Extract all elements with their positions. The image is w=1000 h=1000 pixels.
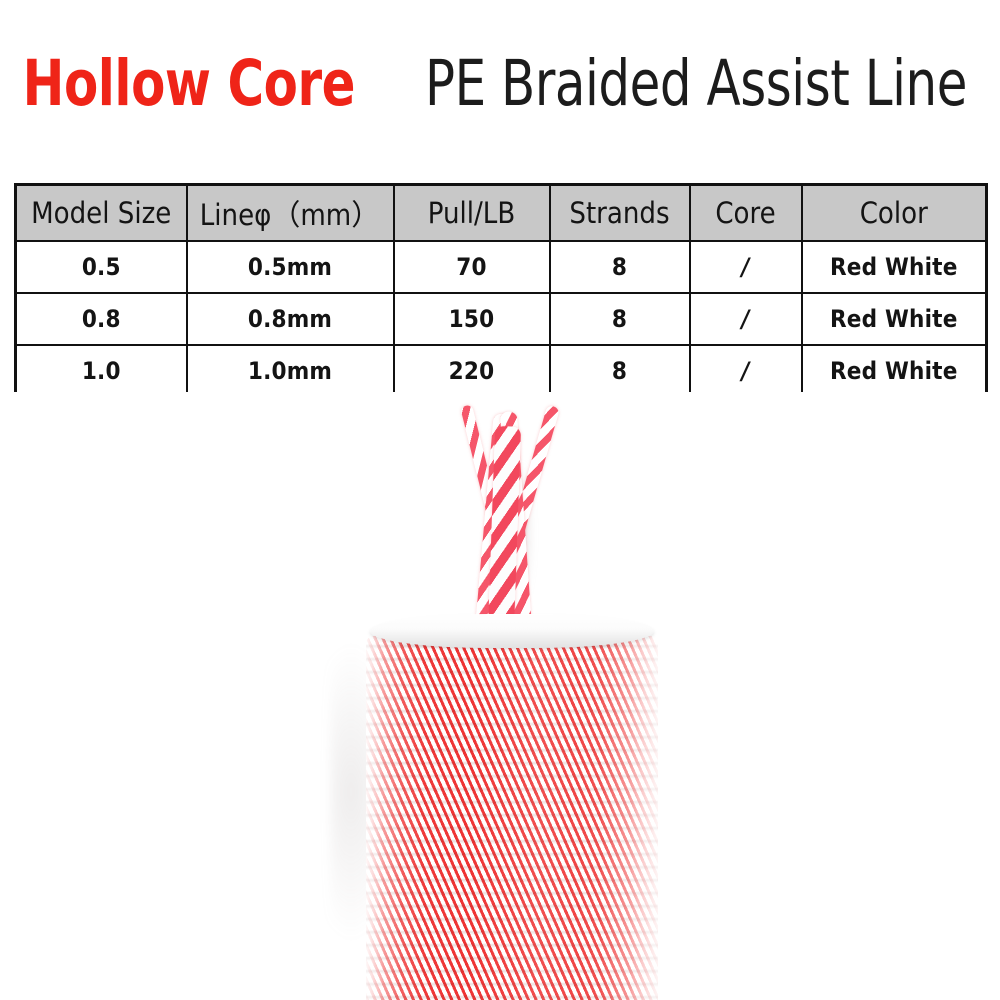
cell-core: / bbox=[690, 293, 802, 345]
cell-color: Red White bbox=[802, 293, 987, 345]
spec-table-container: Model Size Lineφ（mm） Pull/LB Strands Cor… bbox=[14, 183, 985, 399]
column-header-model-size: Model Size bbox=[16, 185, 187, 242]
cell-pull-lb: 150 bbox=[394, 293, 550, 345]
spec-table-head: Model Size Lineφ（mm） Pull/LB Strands Cor… bbox=[16, 185, 987, 242]
cell-core: / bbox=[690, 241, 802, 293]
spool-gloss-overlay bbox=[366, 636, 658, 1000]
cell-line-diameter: 0.8mm bbox=[187, 293, 394, 345]
cell-model-size: 1.0 bbox=[16, 345, 187, 398]
braided-line-tail bbox=[455, 400, 555, 630]
product-photo bbox=[0, 392, 1000, 1000]
column-header-line-diameter: Lineφ（mm） bbox=[187, 185, 394, 242]
cell-model-size: 0.8 bbox=[16, 293, 187, 345]
cell-strands: 8 bbox=[550, 293, 690, 345]
table-row: 0.8 0.8mm 150 8 / Red White bbox=[16, 293, 987, 345]
cell-core: / bbox=[690, 345, 802, 398]
page-title-rest: PE Braided Assist Line bbox=[425, 52, 967, 115]
cell-color: Red White bbox=[802, 241, 987, 293]
table-row: 0.5 0.5mm 70 8 / Red White bbox=[16, 241, 987, 293]
column-header-strands: Strands bbox=[550, 185, 690, 242]
column-header-pull-lb: Pull/LB bbox=[394, 185, 550, 242]
spec-table-body: 0.5 0.5mm 70 8 / Red White 0.8 0.8mm 150… bbox=[16, 241, 987, 398]
cell-model-size: 0.5 bbox=[16, 241, 187, 293]
page-title: Hollow CorePE Braided Assist Line bbox=[0, 52, 1000, 115]
cell-line-diameter: 0.5mm bbox=[187, 241, 394, 293]
cell-line-diameter: 1.0mm bbox=[187, 345, 394, 398]
table-row: 1.0 1.0mm 220 8 / Red White bbox=[16, 345, 987, 398]
spool-wound-line bbox=[366, 636, 658, 1000]
cell-strands: 8 bbox=[550, 241, 690, 293]
page-title-accent: Hollow Core bbox=[23, 52, 355, 115]
cell-strands: 8 bbox=[550, 345, 690, 398]
column-header-core: Core bbox=[690, 185, 802, 242]
column-header-color: Color bbox=[802, 185, 987, 242]
cell-color: Red White bbox=[802, 345, 987, 398]
spec-table: Model Size Lineφ（mm） Pull/LB Strands Cor… bbox=[14, 183, 988, 399]
cell-pull-lb: 70 bbox=[394, 241, 550, 293]
table-header-row: Model Size Lineφ（mm） Pull/LB Strands Cor… bbox=[16, 185, 987, 242]
cell-pull-lb: 220 bbox=[394, 345, 550, 398]
spool-top-flange bbox=[370, 614, 654, 648]
line-spool bbox=[366, 614, 658, 1000]
